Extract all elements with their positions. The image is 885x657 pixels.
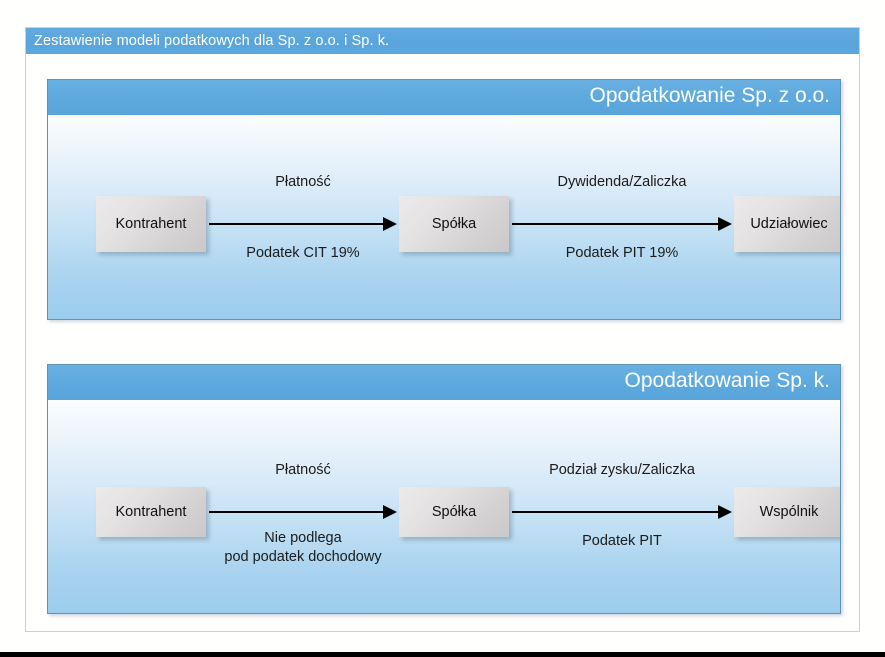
page-canvas: Zestawienie modeli podatkowych dla Sp. z… (0, 0, 885, 657)
edge-label-dywidenda-above: Dywidenda/Zaliczka (512, 173, 732, 192)
arrow-shaft (512, 223, 718, 225)
node-label: Udziałowiec (750, 216, 827, 232)
node-label: Kontrahent (116, 504, 187, 520)
section-title-sp-z-oo: Opodatkowanie Sp. z o.o. (590, 84, 831, 108)
node-label: Kontrahent (116, 216, 187, 232)
arrow-kontrahent-to-spolka (209, 217, 397, 231)
edge-label-podatek-pit-below: Podatek PIT (512, 532, 732, 551)
arrow-head (718, 217, 732, 231)
node-label: Spółka (432, 504, 476, 520)
section-title-sp-k: Opodatkowanie Sp. k. (625, 369, 830, 393)
node-label: Spółka (432, 216, 476, 232)
edge-label-line-2: pod podatek dochodowy (184, 548, 422, 567)
section-panel-sp-z-oo: Opodatkowanie Sp. z o.o. Kontrahent Spół… (47, 79, 841, 320)
edge-label-platnosc-above: Płatność (209, 173, 397, 192)
node-label: Wspólnik (760, 504, 819, 520)
arrow-shaft (209, 511, 383, 513)
section-panel-sp-k: Opodatkowanie Sp. k. Kontrahent Spółka W… (47, 364, 841, 614)
arrow-head (383, 505, 397, 519)
edge-label-podatek-pit-below: Podatek PIT 19% (512, 244, 732, 263)
arrow-spolka-to-udzialowiec (512, 217, 732, 231)
arrow-spolka-to-wspolnik (512, 505, 732, 519)
edge-label-podzial-zysku-above: Podział zysku/Zaliczka (505, 461, 739, 480)
section-body-sp-k: Kontrahent Spółka Wspólnik Płatność Nie … (48, 401, 840, 613)
bottom-black-strip (0, 652, 885, 657)
arrow-head (718, 505, 732, 519)
node-wspolnik[interactable]: Wspólnik (734, 487, 840, 537)
edge-label-line-1: Nie podlega (184, 529, 422, 548)
section-body-sp-z-oo: Kontrahent Spółka Udziałowiec Płatność P… (48, 116, 840, 319)
section-header-sp-k: Opodatkowanie Sp. k. (48, 365, 840, 401)
document-title-bar: Zestawienie modeli podatkowych dla Sp. z… (26, 28, 859, 55)
arrow-shaft (209, 223, 383, 225)
node-kontrahent[interactable]: Kontrahent (96, 196, 206, 252)
edge-label-platnosc-above: Płatność (209, 461, 397, 480)
edge-label-nie-podlega-below: Nie podlega pod podatek dochodowy (184, 529, 422, 566)
page-title: Zestawienie modeli podatkowych dla Sp. z… (34, 33, 389, 49)
arrow-shaft (512, 511, 718, 513)
diagram-outer-frame: Zestawienie modeli podatkowych dla Sp. z… (25, 27, 860, 632)
edge-label-podatek-cit-below: Podatek CIT 19% (199, 244, 407, 263)
arrow-kontrahent-to-spolka (209, 505, 397, 519)
node-udzialowiec[interactable]: Udziałowiec (734, 196, 840, 252)
node-spolka[interactable]: Spółka (399, 196, 509, 252)
section-header-sp-z-oo: Opodatkowanie Sp. z o.o. (48, 80, 840, 116)
arrow-head (383, 217, 397, 231)
